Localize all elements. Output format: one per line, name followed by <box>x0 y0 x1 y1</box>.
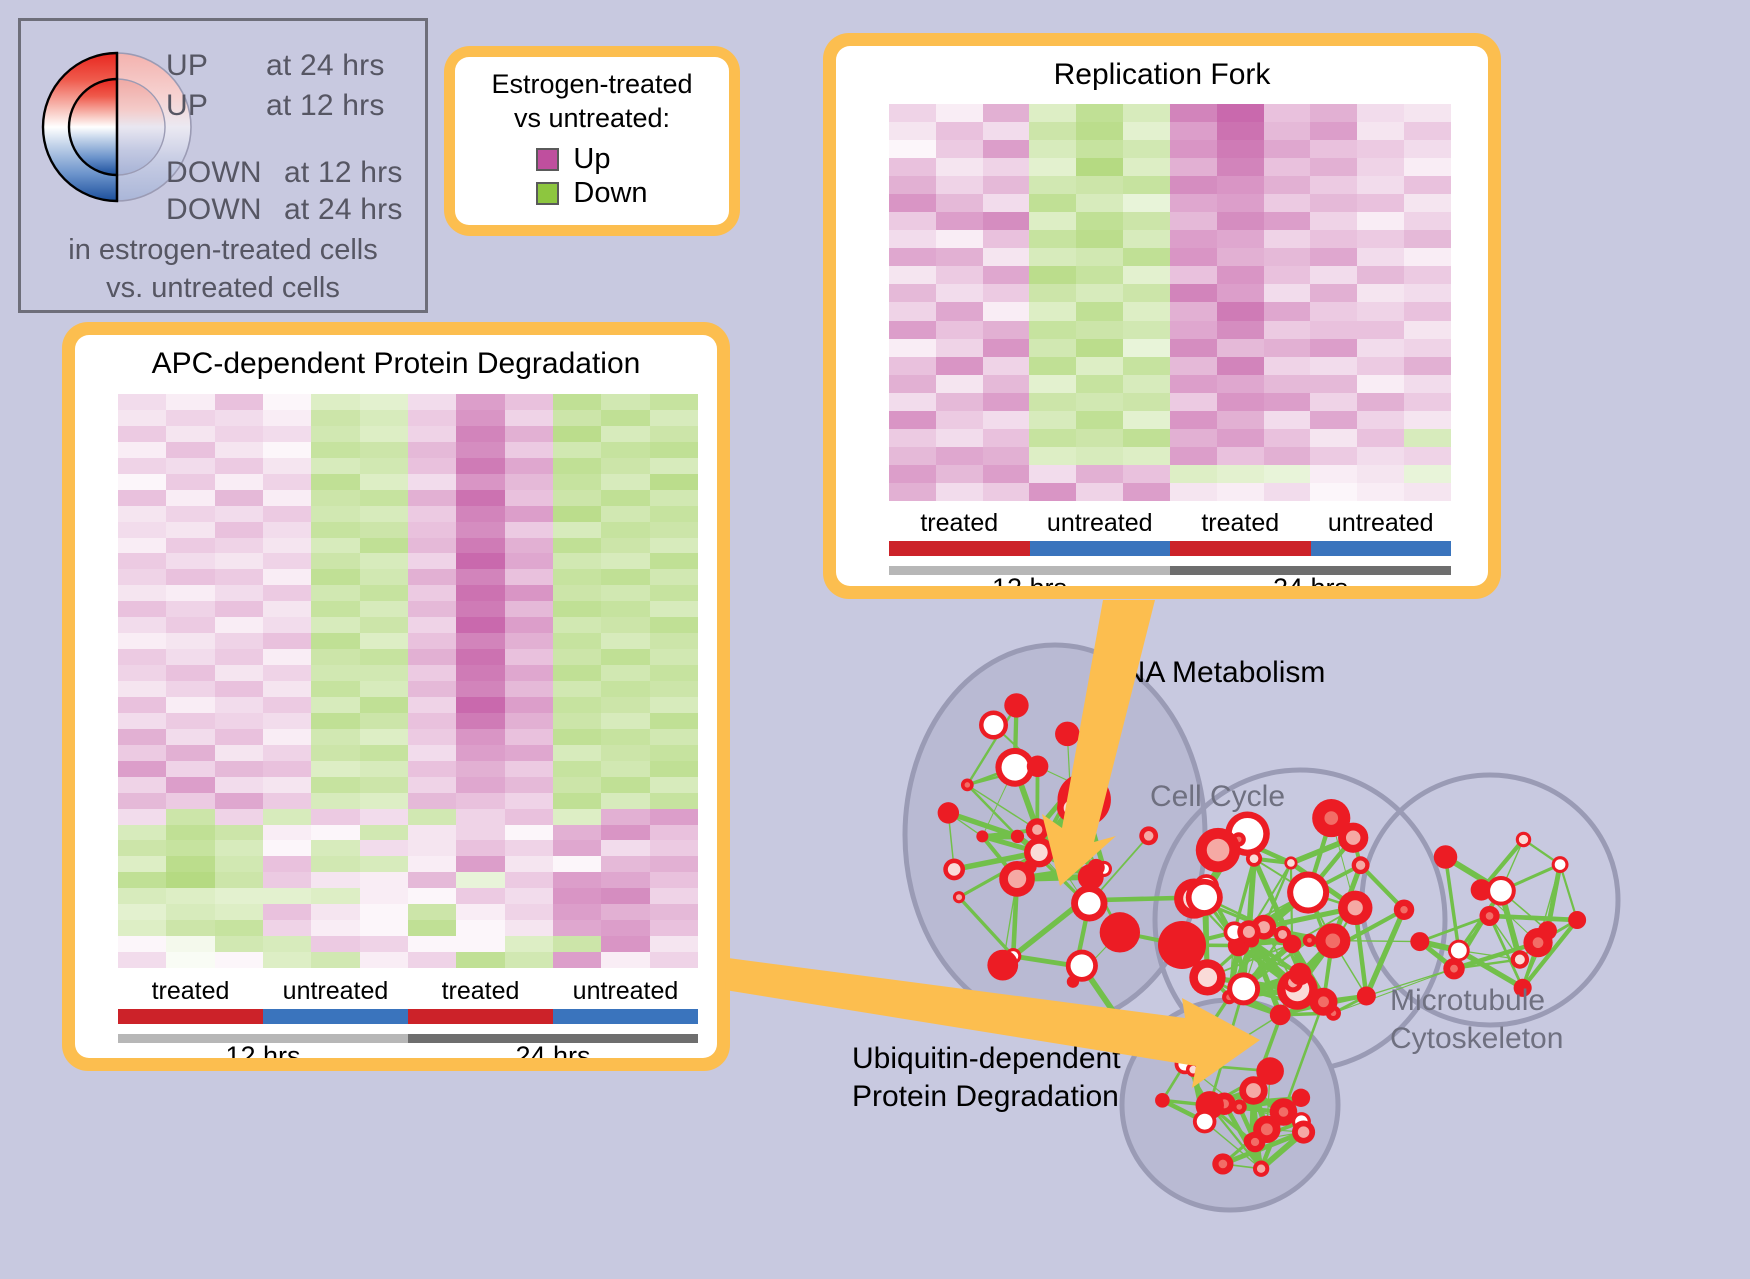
heatmap-cell <box>650 856 698 872</box>
wheel-footer-line-2: vs. untreated cells <box>21 269 425 307</box>
apc-sample-labels: treated untreated treated untreated <box>118 976 698 1006</box>
heatmap-cell <box>601 856 649 872</box>
heatmap-cell <box>1076 230 1123 248</box>
network-node[interactable] <box>1158 921 1206 969</box>
heatmap-cell <box>1076 411 1123 429</box>
heatmap-cell <box>166 538 214 554</box>
heatmap-cell <box>1123 122 1170 140</box>
apc-time-labels: 12 hrs 24 hrs <box>118 1038 698 1058</box>
heatmap-cell <box>408 410 456 426</box>
heatmap-cell <box>215 809 263 825</box>
node-outer-ring <box>938 802 959 823</box>
heatmap-cell <box>215 633 263 649</box>
heatmap-cell <box>936 302 983 320</box>
node-outer-ring <box>1055 722 1080 747</box>
node-inner-core <box>1251 1138 1259 1146</box>
heatmap-cell <box>360 697 408 713</box>
heatmap-cell <box>601 474 649 490</box>
heatmap-cell <box>1123 375 1170 393</box>
heatmap-cell <box>408 458 456 474</box>
node-inner-core <box>1198 968 1217 987</box>
heatmap-cell <box>263 840 311 856</box>
network-node[interactable] <box>1270 1098 1298 1126</box>
heatmap-cell <box>166 888 214 904</box>
heatmap-cell <box>118 410 166 426</box>
heatmap-cell <box>118 474 166 490</box>
heatmap-cell <box>408 442 456 458</box>
heatmap-cell <box>360 713 408 729</box>
heatmap-cell <box>505 601 553 617</box>
heatmap-cell <box>263 633 311 649</box>
heatmap-cell <box>456 872 504 888</box>
heatmap-cell <box>553 474 601 490</box>
heatmap-cell <box>1264 375 1311 393</box>
heatmap-cell <box>215 474 263 490</box>
network-node[interactable] <box>953 891 965 903</box>
network-node[interactable] <box>1287 872 1329 914</box>
node-inner-core <box>1192 885 1217 910</box>
heatmap-cell <box>360 825 408 841</box>
heatmap-cell <box>166 840 214 856</box>
heatmap-cell <box>166 601 214 617</box>
heatmap-cell <box>1170 321 1217 339</box>
network-node[interactable] <box>1212 1153 1233 1174</box>
heatmap-cell <box>650 920 698 936</box>
node-inner-core <box>1257 1164 1265 1172</box>
heatmap-cell <box>983 429 1030 447</box>
heatmap-cell <box>1264 411 1311 429</box>
heatmap-cell <box>1029 212 1076 230</box>
heatmap-cell <box>1029 302 1076 320</box>
heatmap-cell <box>1404 122 1451 140</box>
network-node[interactable] <box>1026 818 1049 841</box>
network-node[interactable] <box>1256 1057 1284 1085</box>
network-node[interactable] <box>1394 899 1414 919</box>
network-node[interactable] <box>1186 1062 1201 1077</box>
heatmap-cell <box>1123 339 1170 357</box>
heatmap-cell <box>166 745 214 761</box>
apc-group-bar <box>118 1009 698 1024</box>
heatmap-cell <box>936 483 983 501</box>
heatmap-cell <box>360 872 408 888</box>
heatmap-cell <box>215 538 263 554</box>
node-inner-core <box>1490 880 1512 902</box>
network-node[interactable] <box>1088 859 1105 876</box>
heatmap-cell <box>505 538 553 554</box>
heatmap-cell <box>505 809 553 825</box>
heatmap-cell <box>936 248 983 266</box>
heatmap-cell <box>408 777 456 793</box>
heatmap-cell <box>311 617 359 633</box>
heatmap-cell <box>263 538 311 554</box>
heatmap-cell <box>1357 321 1404 339</box>
heatmap-cell <box>360 538 408 554</box>
network-node[interactable] <box>1116 1020 1136 1040</box>
heatmap-cell <box>889 357 936 375</box>
node-inner-core <box>1008 870 1026 888</box>
apc-degradation-title: APC-dependent Protein Degradation <box>75 335 717 381</box>
heatmap-cell <box>983 230 1030 248</box>
network-edge <box>1446 857 1459 951</box>
heatmap-cell <box>456 761 504 777</box>
heatmap-cell <box>505 761 553 777</box>
heatmap-cell <box>360 458 408 474</box>
heatmap-cell <box>166 825 214 841</box>
heatmap-cell <box>311 713 359 729</box>
heatmap-cell <box>118 793 166 809</box>
network-node[interactable] <box>1443 958 1464 979</box>
heatmap-cell <box>601 458 649 474</box>
heatmap-cell <box>311 777 359 793</box>
heatmap-cell <box>553 729 601 745</box>
heatmap-cell <box>456 729 504 745</box>
network-node[interactable] <box>1516 832 1531 847</box>
network-node[interactable] <box>1284 856 1297 869</box>
legend-swatch-down-icon <box>536 182 559 205</box>
network-node[interactable] <box>938 802 959 823</box>
network-node[interactable] <box>1057 794 1085 822</box>
heatmap-cell <box>650 809 698 825</box>
heatmap-cell <box>1029 447 1076 465</box>
heatmap-cell <box>215 840 263 856</box>
network-node[interactable] <box>1245 1132 1266 1153</box>
heatmap-cell <box>311 888 359 904</box>
heatmap-cell <box>360 904 408 920</box>
heatmap-cell <box>1029 483 1076 501</box>
heatmap-cell <box>456 394 504 410</box>
heatmap-cell <box>360 474 408 490</box>
heatmap-cell <box>1404 339 1451 357</box>
heatmap-cell <box>1404 447 1451 465</box>
heatmap-cell <box>1404 230 1451 248</box>
network-node[interactable] <box>1100 912 1140 952</box>
network-node[interactable] <box>1523 928 1552 957</box>
heatmap-cell <box>360 633 408 649</box>
heatmap-cell <box>215 490 263 506</box>
heatmap-cell <box>505 585 553 601</box>
network-node[interactable] <box>1066 950 1098 982</box>
heatmap-cell <box>983 302 1030 320</box>
sample-label-untreated-12: untreated <box>1030 508 1171 538</box>
heatmap-cell <box>889 212 936 230</box>
heatmap-cell <box>601 426 649 442</box>
network-node[interactable] <box>1309 988 1337 1016</box>
heatmap-cell <box>215 410 263 426</box>
heatmap-cell <box>456 490 504 506</box>
network-node[interactable] <box>1312 799 1350 837</box>
heatmap-cell <box>505 410 553 426</box>
cluster-label-dna-metabolism: DNA Metabolism <box>1102 654 1325 692</box>
node-inner-core <box>1555 859 1566 870</box>
heatmap-cell <box>650 585 698 601</box>
heatmap-cell <box>1310 104 1357 122</box>
network-node[interactable] <box>976 830 988 842</box>
heatmap-cell <box>1404 194 1451 212</box>
heatmap-cell <box>1264 176 1311 194</box>
heatmap-cell <box>601 442 649 458</box>
heatmap-cell <box>601 617 649 633</box>
network-node[interactable] <box>1071 885 1107 921</box>
heatmap-cell <box>360 394 408 410</box>
network-node[interactable] <box>1410 932 1429 951</box>
heatmap-cell <box>166 809 214 825</box>
heatmap-cell <box>1264 104 1311 122</box>
node-inner-core <box>1515 955 1525 965</box>
heatmap-cell <box>215 793 263 809</box>
heatmap-cell <box>1217 284 1264 302</box>
heatmap-cell <box>936 104 983 122</box>
network-node[interactable] <box>1011 830 1024 843</box>
heatmap-cell <box>1123 321 1170 339</box>
heatmap-cell <box>408 840 456 856</box>
network-node[interactable] <box>1023 860 1037 874</box>
heatmap-cell <box>889 248 936 266</box>
heatmap-cell <box>311 506 359 522</box>
heatmap-cell <box>1029 357 1076 375</box>
network-node[interactable] <box>1004 693 1028 717</box>
network-node[interactable] <box>1511 950 1529 968</box>
heatmap-cell <box>263 649 311 665</box>
heatmap-cell <box>263 553 311 569</box>
heatmap-cell <box>166 474 214 490</box>
heatmap-cell <box>601 840 649 856</box>
heatmap-cell <box>1217 393 1264 411</box>
heatmap-cell <box>936 284 983 302</box>
heatmap-cell <box>408 713 456 729</box>
heatmap-cell <box>1170 230 1217 248</box>
network-node[interactable] <box>1568 911 1586 929</box>
network-node[interactable] <box>1479 906 1499 926</box>
network-node[interactable] <box>1283 935 1301 953</box>
heatmap-cell <box>1217 122 1264 140</box>
heatmap-cell <box>311 585 359 601</box>
heatmap-cell <box>263 745 311 761</box>
heatmap-cell <box>456 697 504 713</box>
heatmap-cell <box>166 713 214 729</box>
network-node[interactable] <box>1227 972 1260 1005</box>
heatmap-cell <box>456 649 504 665</box>
heatmap-cell <box>553 458 601 474</box>
heatmap-cell <box>456 569 504 585</box>
heatmap-cell <box>408 522 456 538</box>
heatmap-cell <box>263 888 311 904</box>
heatmap-cell <box>166 665 214 681</box>
sample-label-untreated-12: untreated <box>263 976 408 1006</box>
heatmap-cell <box>311 840 359 856</box>
heatmap-cell <box>1076 248 1123 266</box>
network-node[interactable] <box>943 859 965 881</box>
network-node[interactable] <box>1139 826 1158 845</box>
network-node[interactable] <box>961 779 974 792</box>
heatmap-cell <box>889 194 936 212</box>
group-bar-treated-12 <box>889 541 1030 556</box>
group-bar-untreated-24 <box>553 1009 698 1024</box>
heatmap-cell <box>456 856 504 872</box>
heatmap-cell <box>166 442 214 458</box>
network-node[interactable] <box>1193 1110 1217 1134</box>
network-node[interactable] <box>987 950 1018 981</box>
apc-degradation-heatmap <box>118 394 698 968</box>
heatmap-cell <box>1404 284 1451 302</box>
network-node[interactable] <box>979 711 1008 740</box>
heatmap-cell <box>601 825 649 841</box>
heatmap-cell <box>263 506 311 522</box>
legend-swatch-rows: Up Down <box>536 141 647 209</box>
heatmap-cell <box>553 394 601 410</box>
heatmap-cell <box>408 538 456 554</box>
heatmap-cell <box>1217 321 1264 339</box>
heatmap-cell <box>311 569 359 585</box>
heatmap-cell <box>601 697 649 713</box>
heatmap-cell <box>166 394 214 410</box>
network-node[interactable] <box>1486 876 1516 906</box>
heatmap-cell <box>650 569 698 585</box>
network-node[interactable] <box>1357 987 1376 1006</box>
heatmap-cell <box>166 553 214 569</box>
heatmap-cell <box>215 888 263 904</box>
heatmap-cell <box>601 952 649 968</box>
node-outer-ring <box>1023 860 1037 874</box>
heatmap-cell <box>1123 429 1170 447</box>
heatmap-cell <box>1076 483 1123 501</box>
heatmap-cell <box>601 569 649 585</box>
heatmap-cell <box>936 158 983 176</box>
heatmap-cell <box>311 904 359 920</box>
heatmap-cell <box>118 442 166 458</box>
heatmap-cell <box>1170 158 1217 176</box>
heatmap-cell <box>650 601 698 617</box>
node-outer-ring <box>1027 756 1049 778</box>
network-node[interactable] <box>1289 963 1311 985</box>
heatmap-cell <box>263 458 311 474</box>
network-node[interactable] <box>1155 1093 1170 1108</box>
network-node[interactable] <box>1303 934 1316 947</box>
heatmap-cell <box>1123 447 1170 465</box>
heatmap-cell <box>263 522 311 538</box>
network-node[interactable] <box>1196 828 1241 873</box>
network-node[interactable] <box>1027 756 1049 778</box>
network-node[interactable] <box>1232 1099 1247 1114</box>
heatmap-cell <box>983 266 1030 284</box>
heatmap-cell <box>1217 447 1264 465</box>
heatmap-cell <box>311 920 359 936</box>
heatmap-cell <box>1076 339 1123 357</box>
heatmap-cell <box>263 856 311 872</box>
heatmap-cell <box>408 617 456 633</box>
heatmap-cell <box>1264 266 1311 284</box>
heatmap-cell <box>408 888 456 904</box>
heatmap-cell <box>311 729 359 745</box>
network-node[interactable] <box>1186 879 1223 916</box>
heatmap-cell <box>650 681 698 697</box>
heatmap-cell <box>456 553 504 569</box>
heatmap-cell <box>601 777 649 793</box>
heatmap-cell <box>1357 140 1404 158</box>
network-node[interactable] <box>1270 1004 1291 1025</box>
network-node[interactable] <box>1315 923 1350 958</box>
network-node[interactable] <box>1434 845 1458 869</box>
network-node[interactable] <box>1352 856 1370 874</box>
heatmap-cell <box>936 447 983 465</box>
heatmap-cell <box>311 633 359 649</box>
network-node[interactable] <box>1055 722 1080 747</box>
sample-label-treated-24: treated <box>1170 508 1311 538</box>
wheel-label-up-12-direction: UP <box>166 89 208 123</box>
time-label-12hrs: 12 hrs <box>889 570 1170 586</box>
heatmap-cell <box>360 569 408 585</box>
network-node[interactable] <box>1448 940 1470 962</box>
heatmap-cell <box>505 681 553 697</box>
heatmap-cell <box>505 617 553 633</box>
heatmap-cell <box>553 681 601 697</box>
heatmap-cell <box>456 952 504 968</box>
heatmap-cell <box>166 585 214 601</box>
heatmap-cell <box>263 872 311 888</box>
heatmap-cell <box>650 793 698 809</box>
heatmap-cell <box>215 952 263 968</box>
heatmap-cell <box>118 856 166 872</box>
network-node[interactable] <box>1253 1161 1269 1177</box>
heatmap-cell <box>166 856 214 872</box>
heatmap-cell <box>118 888 166 904</box>
heatmap-cell <box>360 649 408 665</box>
heatmap-cell <box>650 888 698 904</box>
node-inner-core <box>1451 943 1467 959</box>
heatmap-cell <box>1217 375 1264 393</box>
heatmap-cell <box>263 442 311 458</box>
network-node[interactable] <box>1552 856 1569 873</box>
node-inner-core <box>1450 965 1458 973</box>
heatmap-cell <box>1029 104 1076 122</box>
heatmap-cell <box>263 681 311 697</box>
heatmap-cell <box>118 904 166 920</box>
network-node[interactable] <box>1338 891 1372 925</box>
heatmap-cell <box>166 936 214 952</box>
network-node[interactable] <box>1237 920 1260 943</box>
heatmap-cell <box>505 490 553 506</box>
heatmap-cell <box>1357 447 1404 465</box>
heatmap-cell <box>601 888 649 904</box>
heatmap-cell <box>311 809 359 825</box>
heatmap-cell <box>118 681 166 697</box>
heatmap-cell <box>1029 339 1076 357</box>
heatmap-cell <box>601 506 649 522</box>
heatmap-cell <box>1170 140 1217 158</box>
heatmap-cell <box>166 522 214 538</box>
heatmap-cell <box>215 617 263 633</box>
heatmap-cell <box>408 697 456 713</box>
heatmap-cell <box>118 713 166 729</box>
heatmap-cell <box>408 394 456 410</box>
heatmap-cell <box>215 761 263 777</box>
heatmap-cell <box>889 465 936 483</box>
heatmap-cell <box>1264 302 1311 320</box>
heatmap-cell <box>408 936 456 952</box>
network-node[interactable] <box>1246 851 1262 867</box>
heatmap-cell <box>889 302 936 320</box>
heatmap-cell <box>1123 140 1170 158</box>
heatmap-cell <box>601 793 649 809</box>
heatmap-cell <box>215 825 263 841</box>
heatmap-cell <box>1310 176 1357 194</box>
heatmap-cell <box>166 490 214 506</box>
heatmap-cell <box>1123 411 1170 429</box>
heatmap-cell <box>118 522 166 538</box>
heatmap-cell <box>408 729 456 745</box>
heatmap-cell <box>505 713 553 729</box>
network-node[interactable] <box>1292 1121 1315 1144</box>
node-inner-core <box>948 863 961 876</box>
